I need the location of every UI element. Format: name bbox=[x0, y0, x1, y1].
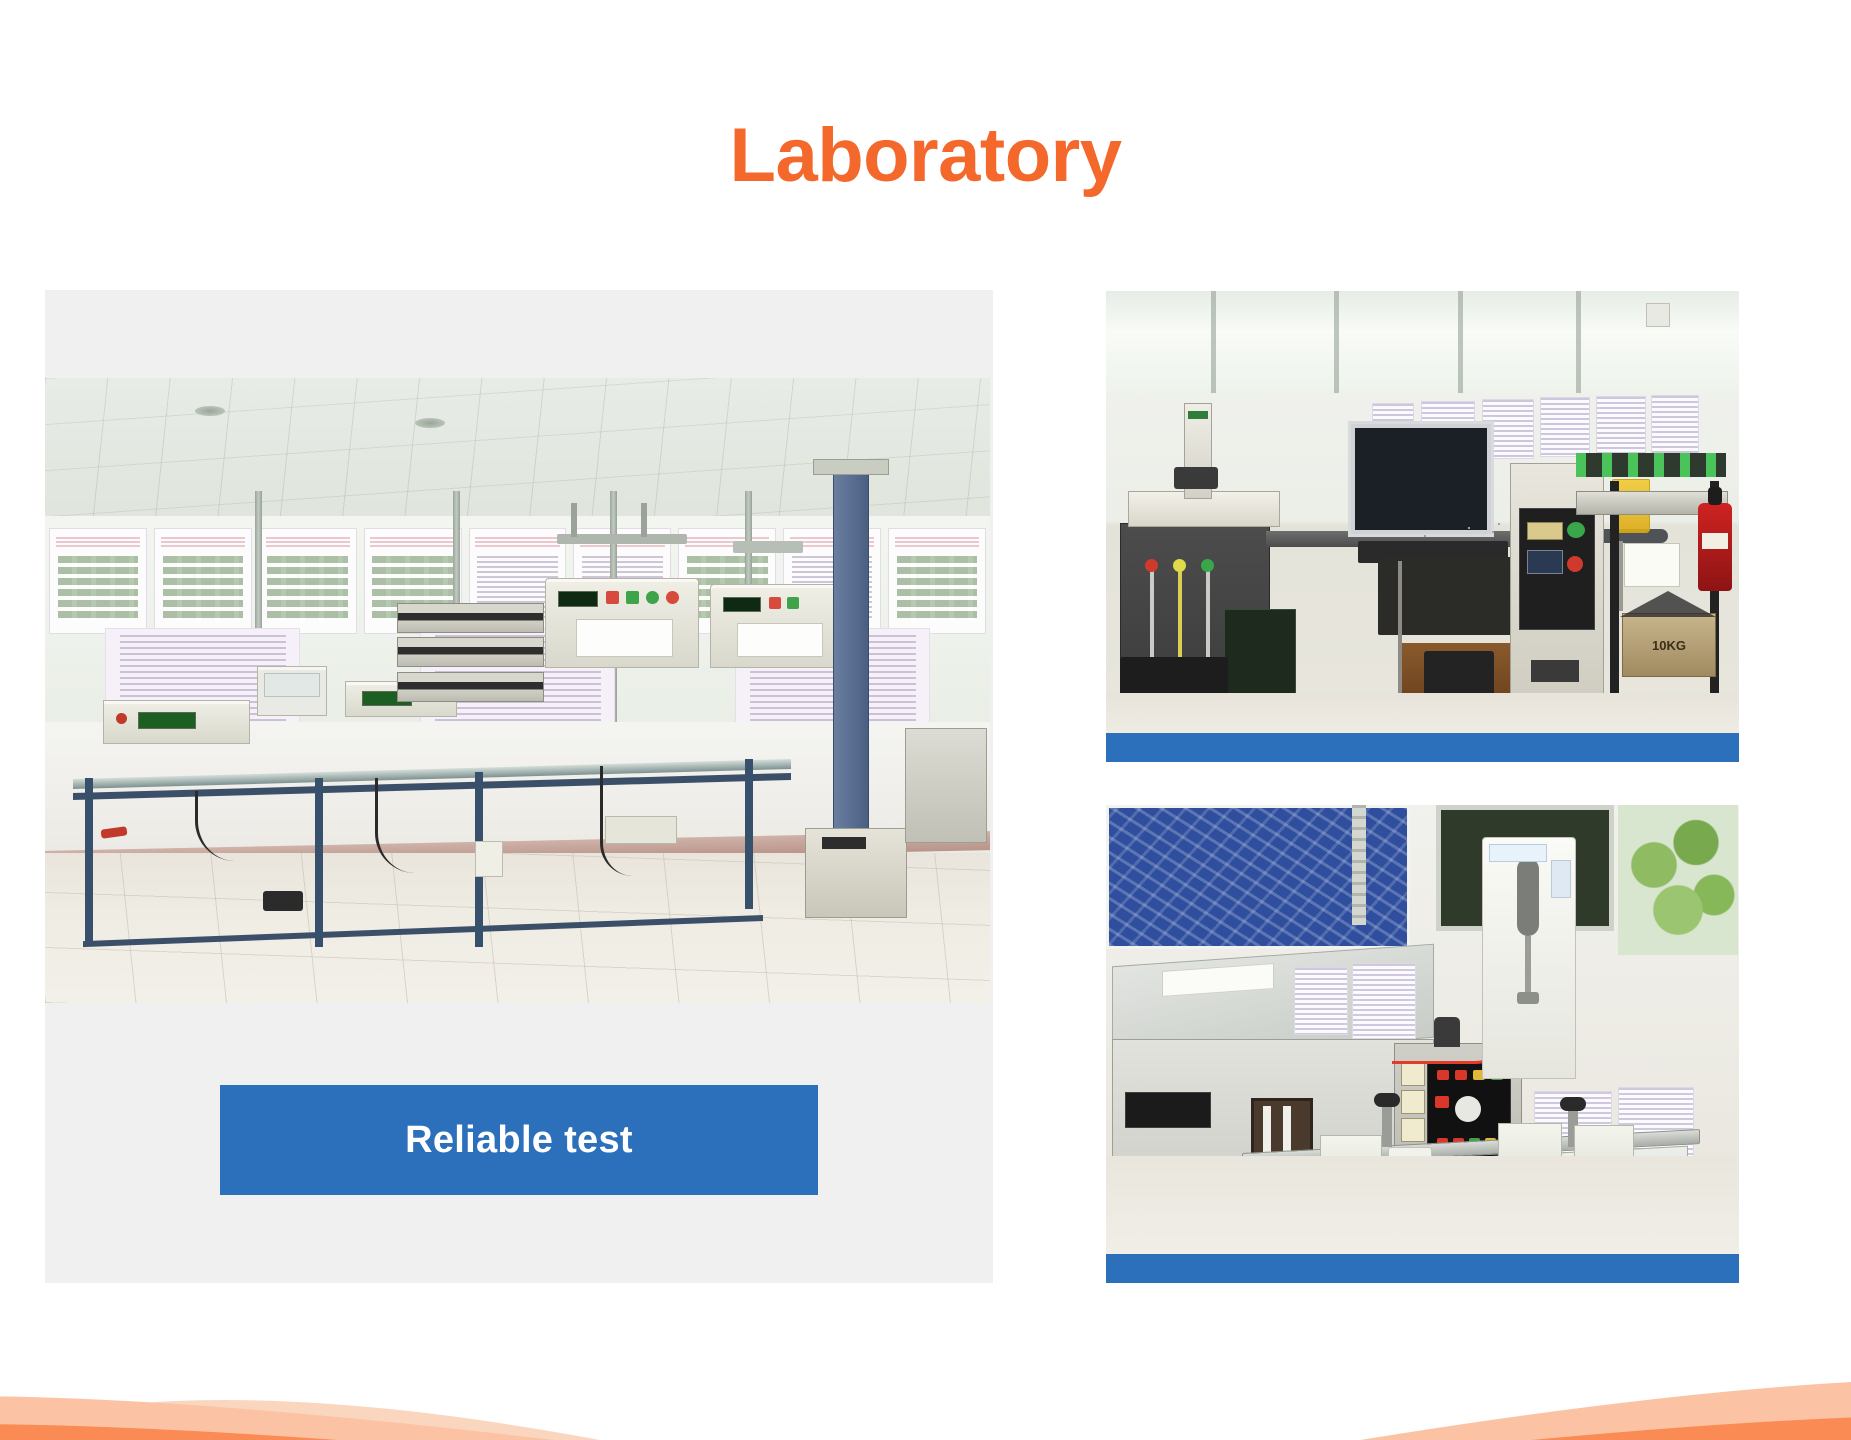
machine-display bbox=[558, 591, 598, 607]
ac-strip bbox=[1525, 936, 1531, 992]
fire-extinguisher bbox=[1698, 503, 1732, 591]
red-indicator-knob bbox=[1145, 559, 1158, 572]
chamber-window-light bbox=[1283, 1106, 1291, 1156]
main-laboratory-bench-photo bbox=[45, 378, 990, 1003]
spacer bbox=[1498, 523, 1500, 525]
wall-document bbox=[1651, 395, 1699, 455]
swoosh-left-mid bbox=[0, 1424, 470, 1440]
wall-outlet bbox=[475, 841, 503, 877]
shelf-post bbox=[1352, 805, 1366, 925]
wall-switch bbox=[1646, 303, 1670, 327]
tester-base-display bbox=[822, 837, 866, 849]
spacer bbox=[1468, 527, 1470, 529]
machine-fixture bbox=[733, 541, 803, 553]
outdoor-plant bbox=[1618, 805, 1738, 955]
ceiling-fan-icon bbox=[415, 418, 445, 428]
salt-spray-and-vibration-test-photo-card bbox=[1106, 805, 1739, 1283]
computer-monitor bbox=[1348, 421, 1494, 537]
wall-socket-box bbox=[605, 816, 677, 844]
test-sample-card bbox=[1624, 543, 1680, 587]
side-cabinet bbox=[905, 728, 987, 843]
projector-optics bbox=[1174, 467, 1218, 489]
instrument-display bbox=[138, 712, 196, 729]
glass-mullion bbox=[1576, 291, 1581, 393]
test-machine-left bbox=[545, 578, 699, 668]
table-clamp-knob bbox=[1374, 1093, 1400, 1107]
extinguisher-handle bbox=[1708, 487, 1722, 505]
projector-brand-strip bbox=[1188, 411, 1208, 419]
tensile-tester-base bbox=[805, 828, 907, 918]
machine-button bbox=[787, 597, 799, 609]
control-button bbox=[1435, 1096, 1449, 1108]
measurement-and-load-test-photo: 10KG bbox=[1106, 291, 1739, 733]
salt-spray-and-vibration-test-photo bbox=[1106, 805, 1739, 1255]
weight-box: 10KG bbox=[1622, 613, 1716, 677]
reliable-test-button[interactable]: Reliable test bbox=[220, 1085, 818, 1195]
chamber-screen bbox=[1527, 550, 1563, 574]
glass-mullion bbox=[1458, 291, 1463, 393]
warning-label-icon bbox=[1401, 1062, 1425, 1086]
warning-label-icon bbox=[1401, 1118, 1425, 1142]
power-adapter bbox=[263, 891, 303, 911]
wall-poster bbox=[888, 528, 986, 634]
chamber-window-light bbox=[1263, 1106, 1271, 1156]
machine-post bbox=[641, 503, 647, 537]
power-supply-unit bbox=[397, 672, 544, 702]
photo-accent-bar bbox=[1106, 733, 1739, 762]
table-clamp-post bbox=[1382, 1101, 1392, 1147]
wall-document bbox=[1596, 396, 1646, 456]
spacer bbox=[1492, 531, 1494, 533]
power-supply-unit bbox=[397, 603, 544, 633]
photo-floor bbox=[1106, 1156, 1739, 1255]
balance-glass-case bbox=[264, 673, 320, 697]
warning-label-icon bbox=[1401, 1090, 1425, 1114]
swoosh-right-light bbox=[1330, 1380, 1851, 1440]
air-conditioner-cabinet bbox=[1482, 837, 1576, 1079]
ac-energy-label bbox=[1551, 860, 1571, 898]
glass-partition-band bbox=[1106, 291, 1739, 393]
green-indicator-knob bbox=[1201, 559, 1214, 572]
table-clamp-knob bbox=[1560, 1097, 1586, 1111]
ac-control bbox=[1517, 992, 1539, 1004]
machine-button bbox=[666, 591, 679, 604]
indicator-lamp-row bbox=[1576, 453, 1726, 477]
tensile-tester-head bbox=[813, 459, 889, 475]
test-bench-leg bbox=[745, 759, 753, 909]
floor-equipment-box bbox=[1424, 651, 1494, 697]
power-supply-unit bbox=[397, 637, 544, 667]
ac-vent bbox=[1517, 858, 1539, 936]
control-dial bbox=[1455, 1096, 1481, 1122]
swoosh-left-pale bbox=[0, 1400, 600, 1440]
chamber-display bbox=[1527, 522, 1563, 540]
machine-post bbox=[571, 503, 577, 537]
wall-poster bbox=[259, 528, 357, 634]
chamber-nameplate bbox=[1125, 1092, 1211, 1128]
page-title: Laboratory bbox=[0, 118, 1851, 194]
test-machine-right bbox=[710, 584, 844, 668]
machine-button bbox=[606, 591, 619, 604]
extinguisher-label bbox=[1702, 533, 1728, 549]
wall-poster bbox=[49, 528, 147, 634]
machine-label-card bbox=[576, 619, 673, 657]
tensile-tester-column bbox=[833, 466, 869, 831]
ac-sticker bbox=[1489, 844, 1547, 862]
measurement-and-load-test-photo-card: 10KG bbox=[1106, 291, 1739, 762]
spacer bbox=[1424, 535, 1426, 537]
power-cable bbox=[375, 778, 438, 873]
machine-button bbox=[626, 591, 639, 604]
swoosh-right-mid bbox=[1430, 1416, 1851, 1440]
wall-document bbox=[1540, 397, 1590, 457]
instrument-indicator bbox=[116, 713, 127, 724]
control-button bbox=[1437, 1070, 1449, 1080]
chamber-start-button bbox=[1567, 522, 1585, 538]
wall-poster bbox=[154, 528, 252, 634]
control-button bbox=[1455, 1070, 1467, 1080]
photo-accent-bar bbox=[1106, 1254, 1739, 1283]
wall-document bbox=[1352, 963, 1416, 1039]
machine-display bbox=[723, 597, 761, 612]
machine-button bbox=[769, 597, 781, 609]
chamber-lower-panel bbox=[1531, 660, 1579, 682]
monitor-screen bbox=[1355, 428, 1487, 530]
chamber-stop-button bbox=[1567, 556, 1583, 572]
wall-document bbox=[1294, 967, 1348, 1035]
reliable-test-label: Reliable test bbox=[405, 1119, 633, 1162]
test-bench-leg bbox=[85, 778, 93, 941]
photo-floor bbox=[1106, 693, 1739, 733]
machine-label-card bbox=[737, 623, 823, 657]
test-bench-leg bbox=[315, 778, 323, 947]
swoosh-left-light bbox=[0, 1396, 620, 1440]
ceiling-fan-icon bbox=[195, 406, 225, 416]
bench-instrument-meter bbox=[103, 700, 250, 744]
glass-mullion bbox=[1211, 291, 1216, 393]
machine-button bbox=[646, 591, 659, 604]
analytical-balance bbox=[257, 666, 327, 716]
glass-mullion bbox=[1334, 291, 1339, 393]
yellow-indicator-knob bbox=[1173, 559, 1186, 572]
